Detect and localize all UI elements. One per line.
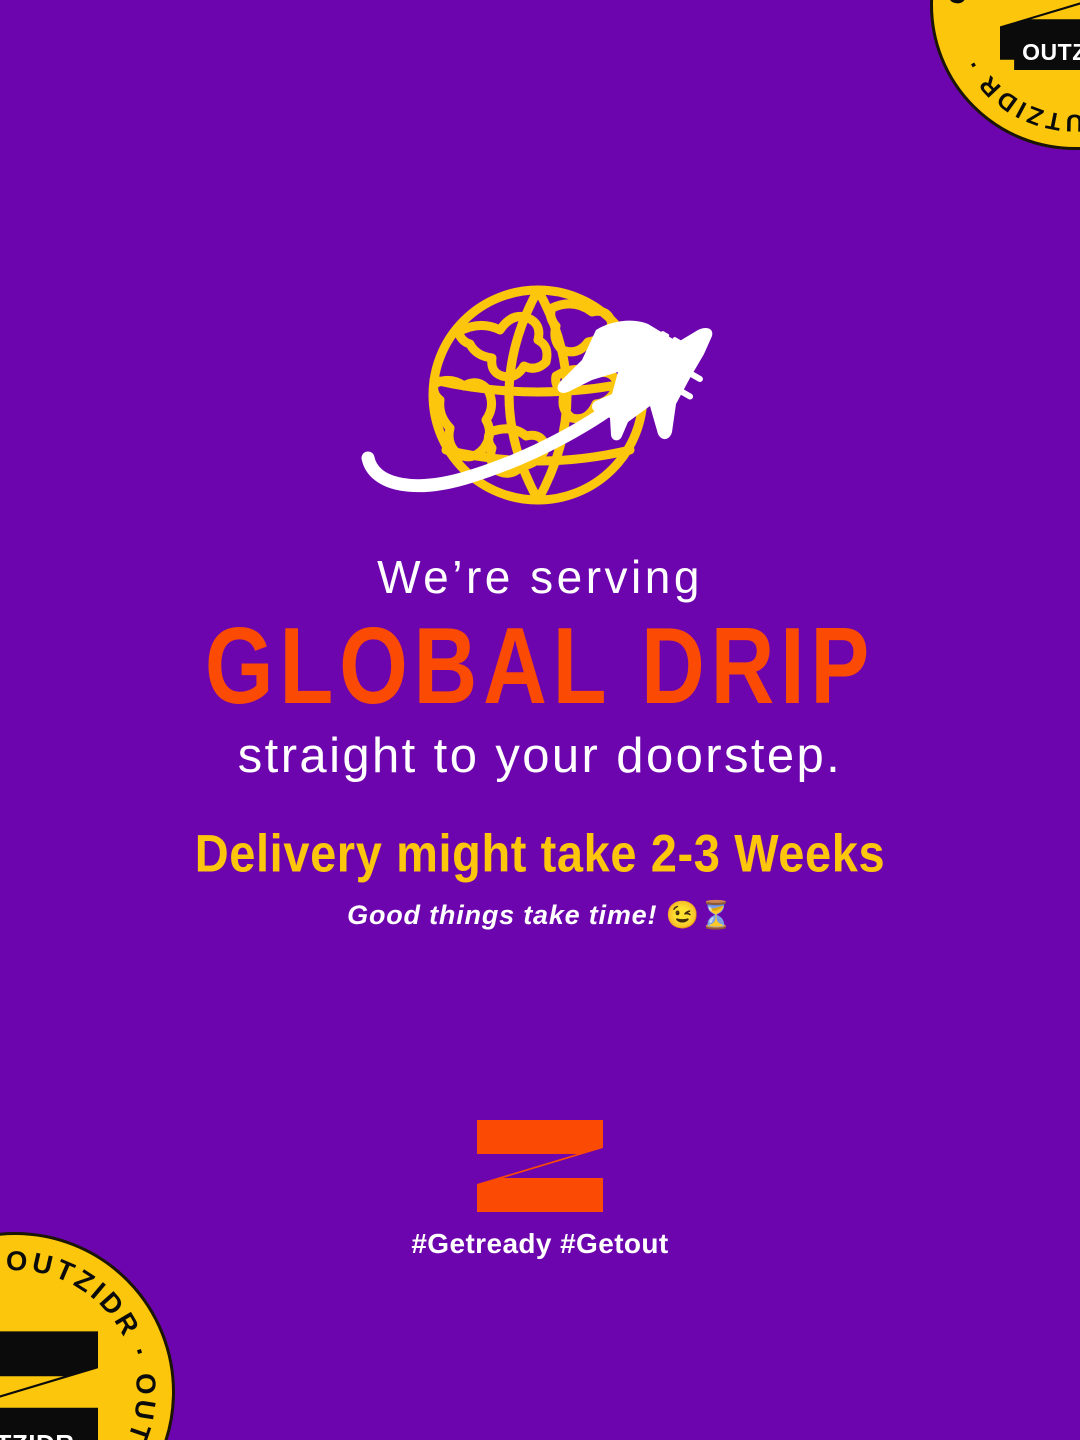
delivery-estimate: Delivery might take 2-3 Weeks [0, 822, 1080, 884]
delivery-subtext-label: Good things take time! [347, 900, 657, 930]
badge-core-label-top-right: OUTZIDR [1014, 35, 1080, 70]
headline-line-2: GLOBAL DRIP [22, 612, 1059, 721]
headline-line-3: straight to your doorstep. [0, 730, 1080, 784]
promo-poster: We’re serving GLOBAL DRIP straight to yo… [0, 0, 1080, 1440]
wink-hourglass-emoji: 😉⏳ [666, 900, 733, 930]
delivery-block: Delivery might take 2-3 Weeks Good thing… [0, 822, 1080, 931]
headline-block: We’re serving GLOBAL DRIP straight to yo… [0, 552, 1080, 783]
globe-airplane-icon [360, 272, 720, 517]
badge-core-label-bottom-left: OUTZIDR [0, 1424, 84, 1440]
delivery-subtext: Good things take time! 😉⏳ [0, 899, 1080, 931]
outzidr-z-logo [477, 1120, 603, 1212]
badge-core-z-bottom-left [0, 1321, 98, 1440]
outzidr-badge-bottom-left: OUTZIDR · OUTZIDR · OUTZIDR · OUTZIDR · … [0, 1232, 175, 1440]
headline-line-1: We’re serving [0, 552, 1080, 604]
outzidr-badge-top-right: OUTZIDR · OUTZIDR · OUTZIDR · OUTZIDR · … [930, 0, 1080, 150]
